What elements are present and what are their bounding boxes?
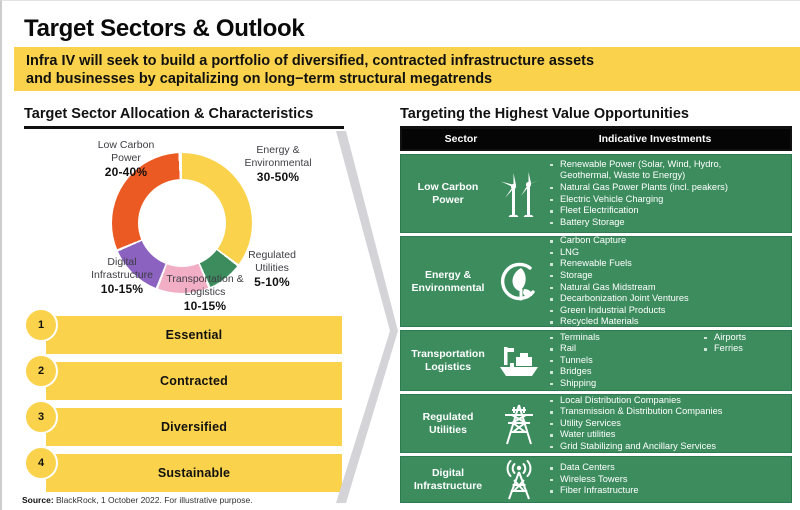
row-sector-name: Transportation Logistics <box>401 348 491 373</box>
sector-line-1: Energy & <box>405 269 491 282</box>
list-item: Renewable Power (Solar, Wind, Hydro, <box>547 159 787 171</box>
list-item: LNG <box>547 247 787 259</box>
list-item: Local Distribution Companies <box>547 395 787 407</box>
list-item: Utility Services <box>547 418 787 430</box>
list-item: Shipping <box>547 378 701 390</box>
donut-label-digital-infrastructure: Digital Infrastructure 10-15% <box>80 256 164 296</box>
opportunities-table: Sector Indicative Investments Low Carbon… <box>400 127 792 503</box>
label-line-2: Logistics <box>149 286 261 299</box>
table-row[interactable]: Low Carbon Power Renewable Power (Solar,… <box>400 154 792 233</box>
source-text: BlackRock, 1 October 2022. For illustrat… <box>54 495 253 505</box>
column-header-investments: Indicative Investments <box>520 133 790 145</box>
list-item: Renewable Fuels <box>547 258 787 270</box>
characteristic-number-badge: 3 <box>24 400 58 434</box>
items-column-2: Airports Ferries <box>701 332 787 390</box>
row-items: Terminals Rail Tunnels Bridges Shipping … <box>547 327 791 395</box>
donut-label-energy-environmental: Energy & Environmental 30-50% <box>224 144 332 184</box>
list-item: Decarbonization Joint Ventures <box>547 293 787 305</box>
characteristic-bar[interactable]: Sustainable <box>46 454 342 492</box>
list-item: Natural Gas Midstream <box>547 282 787 294</box>
sector-line-2: Environmental <box>405 282 491 295</box>
items-column-1: Carbon Capture LNG Renewable Fuels Stora… <box>547 235 787 328</box>
list-item: Bridges <box>547 366 701 378</box>
items-column-1: Data Centers Wireless Towers Fiber Infra… <box>547 462 787 497</box>
sector-line-2: Utilities <box>405 424 491 437</box>
list-item: Grid Stabilizing and Ancillary Services <box>547 441 787 453</box>
list-item: Green Industrial Products <box>547 305 787 317</box>
characteristic-bar[interactable]: Diversified <box>46 408 342 446</box>
row-sector-name: Regulated Utilities <box>401 411 491 436</box>
banner-text: Infra IV will seek to build a portfolio … <box>26 52 786 88</box>
radio-tower-icon <box>491 458 547 502</box>
source-note: Source: BlackRock, 1 October 2022. For i… <box>22 495 253 505</box>
sector-line-2: Power <box>405 194 491 207</box>
list-item: Battery Storage <box>547 217 787 229</box>
list-item: Electric Vehicle Charging <box>547 194 787 206</box>
list-item: Water utilities <box>547 429 787 441</box>
row-sector-name: Low Carbon Power <box>401 181 491 206</box>
table-row[interactable]: Transportation Logistics Terminals Rail … <box>400 330 792 391</box>
list-item: Wireless Towers <box>547 474 787 486</box>
characteristic-row[interactable]: Contracted 2 <box>24 360 342 402</box>
sector-line-2: Infrastructure <box>405 480 491 493</box>
characteristic-label: Diversified <box>161 420 227 434</box>
highlight-banner: Infra IV will seek to build a portfolio … <box>14 47 800 91</box>
characteristic-row[interactable]: Essential 1 <box>24 314 342 356</box>
items-column-1: Local Distribution Companies Transmissio… <box>547 395 787 453</box>
list-item: Transmission & Distribution Companies <box>547 406 787 418</box>
label-pct: 30-50% <box>224 171 332 184</box>
list-item: Recycled Materials <box>547 316 787 328</box>
characteristic-label: Contracted <box>160 374 228 388</box>
slide-canvas: Target Sectors & Outlook Infra IV will s… <box>0 0 800 510</box>
list-item: Airports <box>701 332 787 344</box>
list-item: Storage <box>547 270 787 282</box>
list-item: Natural Gas Power Plants (incl. peakers) <box>547 182 787 194</box>
table-header-row: Sector Indicative Investments <box>400 127 792 151</box>
list-item: Carbon Capture <box>547 235 787 247</box>
list-item-continuation: Geothermal, Waste to Energy) <box>547 170 787 182</box>
label-pct: 20-40% <box>80 166 172 179</box>
banner-line-1: Infra IV will seek to build a portfolio … <box>26 52 786 70</box>
sector-line-2: Logistics <box>405 361 491 374</box>
column-header-sector: Sector <box>402 133 520 145</box>
characteristic-number-badge: 1 <box>24 308 58 342</box>
list-item: Rail <box>547 343 701 355</box>
row-sector-name: Digital Infrastructure <box>401 467 491 492</box>
transmission-tower-icon <box>491 401 547 447</box>
characteristic-row[interactable]: Sustainable 4 <box>24 452 342 494</box>
page-title: Target Sectors & Outlook <box>24 15 304 43</box>
list-item: Terminals <box>547 332 701 344</box>
row-items: Local Distribution Companies Transmissio… <box>547 390 791 458</box>
label-pct: 10-15% <box>149 300 261 313</box>
label-line-2: Power <box>80 152 172 165</box>
characteristic-number-badge: 4 <box>24 446 58 480</box>
row-sector-name: Energy & Environmental <box>401 269 491 294</box>
left-panel-title: Target Sector Allocation & Characteristi… <box>24 106 313 122</box>
characteristic-number-badge: 2 <box>24 354 58 388</box>
table-row[interactable]: Regulated Utilities Local Distribution C… <box>400 394 792 453</box>
characteristic-row[interactable]: Diversified 3 <box>24 406 342 448</box>
label-line-1: Low Carbon <box>80 139 172 152</box>
leaf-plug-icon <box>491 259 547 305</box>
donut-label-low-carbon-power: Low Carbon Power 20-40% <box>80 139 172 179</box>
donut-hole <box>138 179 226 267</box>
sector-line-1: Low Carbon <box>405 181 491 194</box>
characteristic-label: Essential <box>166 328 223 342</box>
characteristic-label: Sustainable <box>158 466 230 480</box>
row-items: Carbon Capture LNG Renewable Fuels Stora… <box>547 230 791 333</box>
sector-line-1: Digital <box>405 467 491 480</box>
list-item: Data Centers <box>547 462 787 474</box>
label-pct: 10-15% <box>80 283 164 296</box>
row-items: Renewable Power (Solar, Wind, Hydro, Geo… <box>547 154 791 234</box>
wind-turbine-icon <box>491 171 547 217</box>
label-line-1: Regulated <box>230 249 314 262</box>
donut-label-transportation-logistics: Transportation & Logistics 10-15% <box>149 273 261 313</box>
characteristic-bar[interactable]: Contracted <box>46 362 342 400</box>
list-item: Tunnels <box>547 355 701 367</box>
list-item: Fiber Infrastructure <box>547 485 787 497</box>
table-row[interactable]: Digital Infrastructure Data Centers <box>400 456 792 503</box>
label-line-2: Infrastructure <box>80 269 164 282</box>
items-column-1: Terminals Rail Tunnels Bridges Shipping <box>547 332 701 390</box>
sector-line-1: Regulated <box>405 411 491 424</box>
label-line-2: Environmental <box>224 157 332 170</box>
row-items: Data Centers Wireless Towers Fiber Infra… <box>547 457 791 502</box>
source-prefix: Source: <box>22 495 54 505</box>
right-panel-title: Targeting the Highest Value Opportunitie… <box>400 106 689 122</box>
label-line-1: Energy & <box>224 144 332 157</box>
sector-line-1: Transportation <box>405 348 491 361</box>
label-line-1: Transportation & <box>149 273 261 286</box>
left-panel-rule <box>24 126 344 129</box>
cargo-ship-icon <box>491 341 547 381</box>
list-item: Fleet Electrification <box>547 205 787 217</box>
list-item: Ferries <box>701 343 787 355</box>
items-column-1: Renewable Power (Solar, Wind, Hydro, Geo… <box>547 159 787 229</box>
arrow-shape <box>332 131 400 503</box>
characteristics-list: Essential 1 Contracted 2 Diversified 3 S… <box>24 314 342 498</box>
characteristic-bar[interactable]: Essential <box>46 316 342 354</box>
table-row[interactable]: Energy & Environmental Carbon Capture LN… <box>400 236 792 327</box>
label-line-1: Digital <box>80 256 164 269</box>
banner-line-2: and businesses by capitalizing on long−t… <box>26 70 786 88</box>
faint-watermark <box>362 27 512 35</box>
right-pointing-arrow <box>332 131 400 503</box>
